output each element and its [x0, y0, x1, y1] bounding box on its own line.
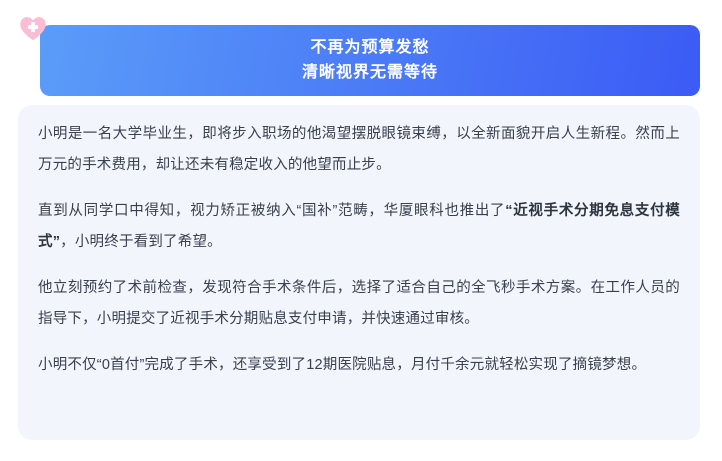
article-paragraph: 小明不仅“0首付”完成了手术，还享受到了12期医院贴息，月付千余元就轻松实现了摘… [38, 350, 680, 381]
banner-title-line-2: 清晰视界无需等待 [302, 61, 438, 86]
heart-plus-icon [19, 16, 47, 41]
body-text: 他立刻预约了术前检查，发现符合手术条件后，选择了适合自己的全飞秒手术方案。在工作… [38, 280, 680, 327]
banner-gradient: 不再为预算发愁 清晰视界无需等待 [40, 25, 700, 96]
body-text: 小明不仅“0首付”完成了手术，还享受到了12期医院贴息，月付千余元就轻松实现了摘… [38, 357, 646, 373]
headline-banner: 不再为预算发愁 清晰视界无需等待 [40, 25, 700, 96]
body-text: 直到从同学口中得知，视力矫正被纳入“国补”范畴，华厦眼科也推出了 [38, 203, 505, 219]
body-text: ，小明终于看到了希望。 [60, 234, 222, 250]
page-root: 不再为预算发愁 清晰视界无需等待 小明是一名大学毕业生，即将步入职场的他渴望摆脱… [0, 0, 722, 461]
body-text: 小明是一名大学毕业生，即将步入职场的他渴望摆脱眼镜束缚，以全新面貌开启人生新程。… [38, 126, 680, 173]
article-card: 小明是一名大学毕业生，即将步入职场的他渴望摆脱眼镜束缚，以全新面貌开启人生新程。… [18, 105, 700, 440]
article-paragraph: 他立刻预约了术前检查，发现符合手术条件后，选择了适合自己的全飞秒手术方案。在工作… [38, 273, 680, 335]
article-paragraph: 直到从同学口中得知，视力矫正被纳入“国补”范畴，华厦眼科也推出了“近视手术分期免… [38, 196, 680, 258]
article-paragraph: 小明是一名大学毕业生，即将步入职场的他渴望摆脱眼镜束缚，以全新面貌开启人生新程。… [38, 119, 680, 181]
banner-title-line-1: 不再为预算发愁 [310, 36, 429, 61]
